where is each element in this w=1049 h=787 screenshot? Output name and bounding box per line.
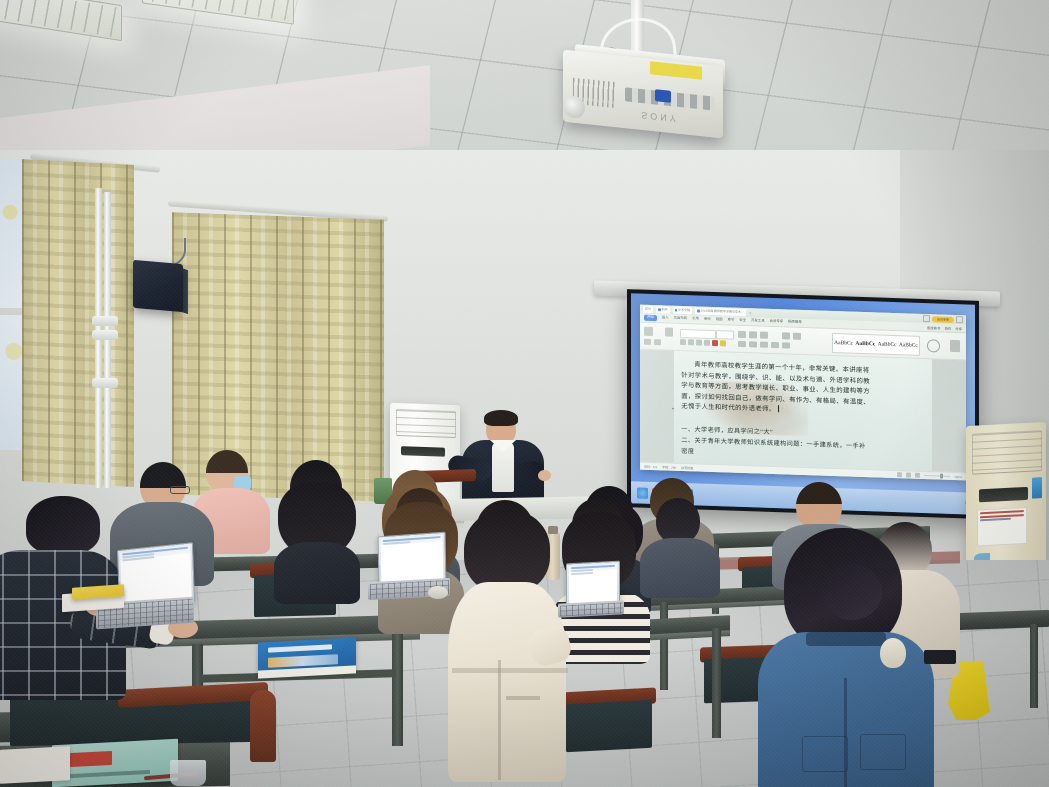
laptop-3-keys[interactable] bbox=[560, 602, 623, 616]
ribbon-tab-layout[interactable]: 页面布局 bbox=[674, 317, 688, 321]
align-left-icon[interactable] bbox=[738, 341, 746, 347]
share-button[interactable]: 分享 bbox=[955, 326, 962, 331]
wps-tab-home-label: 首页 bbox=[645, 308, 651, 311]
doc-icon bbox=[658, 308, 661, 311]
audience-3-glasses bbox=[170, 486, 190, 494]
ribbon-tab-section[interactable]: 章节 bbox=[727, 319, 734, 323]
window-minimize-icon[interactable] bbox=[956, 316, 963, 323]
wall-speaker bbox=[133, 260, 183, 312]
ac-right-notice bbox=[977, 507, 1027, 547]
font-color-icon[interactable] bbox=[712, 340, 718, 346]
doc-paragraph-line-5-text: 无愧于人生和时代的外语老师。 bbox=[681, 403, 775, 413]
view-print-layout-icon[interactable] bbox=[897, 472, 902, 477]
mouse-and-cable[interactable] bbox=[428, 586, 448, 599]
view-web-layout-icon[interactable] bbox=[906, 472, 911, 477]
format-painter-icon[interactable] bbox=[665, 327, 673, 336]
collaborate-button[interactable]: 协作 bbox=[944, 325, 951, 330]
laptop-3-content-line-2 bbox=[571, 572, 593, 575]
status-right-group[interactable]: 100% bbox=[897, 472, 962, 479]
view-outline-icon[interactable] bbox=[915, 473, 920, 478]
window-controls[interactable]: 会员专享 bbox=[923, 315, 963, 323]
laptop-3-titlebar bbox=[571, 565, 615, 569]
doc-icon bbox=[675, 309, 678, 312]
wps-tab-2-label: 稻壳 bbox=[662, 308, 668, 311]
laptop-2-content-line bbox=[383, 541, 411, 545]
line-spacing-icon[interactable] bbox=[771, 342, 779, 348]
wps-document-area[interactable]: 青年教师高校教学生涯的第一个十年，非常关键。本讲座将 针对学术与教学，围绕学、识… bbox=[640, 350, 966, 473]
cut-icon[interactable] bbox=[644, 339, 651, 345]
indent-increase-icon[interactable] bbox=[793, 333, 801, 340]
align-center-icon[interactable] bbox=[749, 341, 757, 347]
strikethrough-icon[interactable] bbox=[704, 340, 710, 346]
laptop-2-display[interactable] bbox=[381, 535, 444, 585]
desk-mid-right-leg bbox=[660, 602, 668, 690]
laptop-3-display[interactable] bbox=[569, 564, 617, 607]
style-heading1-label[interactable]: AaBbCc bbox=[855, 341, 875, 348]
numbered-list-icon[interactable] bbox=[749, 331, 757, 338]
chair-center-1-seatback[interactable] bbox=[566, 700, 652, 753]
desk-center-leg-2 bbox=[712, 628, 721, 738]
laptop-1-titlebar bbox=[122, 547, 188, 556]
ribbon-tab-recommend[interactable]: 稻壳推荐 bbox=[788, 321, 802, 325]
pipe-clamp-3 bbox=[92, 378, 118, 388]
chair-foreground-arm-post[interactable] bbox=[250, 690, 276, 762]
audience-10-collar bbox=[806, 632, 886, 646]
audience-1-hair bbox=[26, 496, 100, 554]
zoom-slider[interactable] bbox=[924, 475, 950, 477]
style-no-spacing: AaBbCc bbox=[855, 341, 875, 348]
search-icon[interactable] bbox=[927, 339, 940, 352]
copy-icon[interactable] bbox=[654, 339, 661, 345]
indent-decrease-icon[interactable] bbox=[782, 332, 790, 339]
audience-7-coat-seam bbox=[498, 660, 501, 780]
wps-tab-home[interactable]: 首页 bbox=[643, 306, 653, 313]
style-heading2[interactable]: AaBbCc bbox=[878, 341, 897, 348]
lecturer-hand-right bbox=[538, 470, 551, 481]
ac-left-display bbox=[401, 446, 444, 456]
window-restore-icon[interactable] bbox=[923, 315, 930, 322]
book-teal-title bbox=[70, 751, 112, 767]
ac-right-louvers bbox=[972, 431, 1041, 475]
lecturer-hair bbox=[484, 410, 518, 426]
audience-13-torso bbox=[640, 538, 720, 598]
wps-office-window[interactable]: 首页 稻壳 文字文稿 2023讲座 教师教学发展与学术… + bbox=[640, 305, 966, 481]
phone-on-desk[interactable] bbox=[924, 650, 956, 664]
audience-9-head bbox=[796, 482, 842, 530]
ribbon-tab-review[interactable]: 审阅 bbox=[704, 318, 711, 322]
style-heading3[interactable]: AaBbCc bbox=[899, 342, 918, 349]
audience-7-coat bbox=[448, 582, 566, 782]
account-pill[interactable]: 会员专享 bbox=[932, 316, 954, 323]
ribbon-tab-security[interactable]: 安全 bbox=[739, 319, 746, 323]
ac-right-display bbox=[979, 487, 1029, 503]
italic-icon[interactable] bbox=[688, 339, 694, 345]
paste-icon[interactable] bbox=[644, 327, 653, 336]
water-bottle-cap bbox=[548, 526, 558, 534]
text-cursor bbox=[778, 405, 779, 412]
align-right-icon[interactable] bbox=[760, 342, 768, 348]
style-gallery[interactable]: AaBbCc AaBbCc AaBbCc AaBbCc bbox=[832, 333, 920, 356]
doc-icon bbox=[697, 310, 700, 313]
audience-7-pocket bbox=[506, 696, 540, 700]
ribbon-tab-home[interactable]: 开始 bbox=[644, 315, 657, 321]
wps-tab-3[interactable]: 文字文稿 bbox=[673, 307, 693, 315]
ribbon-tab-developer[interactable]: 开发工具 bbox=[751, 320, 765, 324]
zoom-level[interactable]: 100% bbox=[954, 475, 962, 479]
borders-icon[interactable] bbox=[782, 342, 790, 348]
bold-icon[interactable] bbox=[680, 339, 686, 345]
audience-4-torso bbox=[274, 542, 360, 604]
wps-tab-active-label: 2023讲座 教师教学发展与学术… bbox=[701, 310, 745, 314]
pipe-clamp-2 bbox=[92, 330, 118, 340]
projector-vga-connector bbox=[655, 89, 671, 103]
ac-right-energy-badge bbox=[1032, 478, 1042, 499]
bullet-list-icon[interactable] bbox=[738, 331, 746, 338]
wps-tab-3-label: 文字文稿 bbox=[678, 309, 690, 312]
underline-icon[interactable] bbox=[696, 339, 702, 345]
classroom-photo: SONY 首页 bbox=[0, 0, 1049, 787]
font-name-box[interactable] bbox=[680, 329, 716, 339]
document-tools-icon[interactable] bbox=[950, 340, 960, 352]
audience-10-bun bbox=[822, 564, 882, 620]
find-command[interactable]: 查找命令 bbox=[927, 325, 941, 330]
status-spellcheck[interactable]: 拼写检查 bbox=[681, 465, 693, 469]
wps-tab-2[interactable]: 稻壳 bbox=[656, 306, 670, 313]
plastic-cup[interactable] bbox=[170, 760, 206, 786]
curtain-right[interactable] bbox=[172, 212, 384, 501]
ribbon-tab-view[interactable]: 视图 bbox=[716, 318, 723, 322]
multilevel-list-icon[interactable] bbox=[760, 332, 768, 339]
audience-10-denim-pocket bbox=[802, 736, 848, 772]
laptop-2-titlebar bbox=[383, 536, 441, 542]
wall-pipe-2 bbox=[104, 192, 111, 488]
status-word-count: 字数：286 bbox=[662, 465, 676, 469]
ribbon-tab-member[interactable]: 会员专享 bbox=[770, 320, 784, 324]
font-size-box[interactable] bbox=[716, 330, 734, 340]
audience-7-coat-belt bbox=[452, 668, 568, 673]
highlight-icon[interactable] bbox=[720, 340, 726, 346]
ribbon-right-actions[interactable]: 查找命令 协作 分享 bbox=[927, 325, 962, 331]
pipe-clamp-1 bbox=[92, 316, 118, 326]
audience-10-denim-pocket-2 bbox=[860, 734, 906, 770]
desk-left-main-leg-2 bbox=[392, 634, 403, 746]
coffee-mug[interactable] bbox=[880, 638, 906, 668]
desk-right-mid-leg-2 bbox=[1030, 624, 1038, 708]
style-normal[interactable]: AaBbCc bbox=[834, 340, 853, 347]
notice-line-3 bbox=[980, 518, 1011, 522]
status-page-info: 页码：1/3 bbox=[644, 464, 657, 468]
paragraph-marker-icon: ▸ bbox=[672, 404, 674, 415]
paper-foreground[interactable] bbox=[0, 746, 70, 784]
ribbon-tab-reference[interactable]: 引用 bbox=[692, 318, 699, 322]
ribbon-tab-insert[interactable]: 插入 bbox=[662, 317, 669, 321]
start-icon[interactable] bbox=[637, 487, 648, 498]
ac-left-louvers bbox=[396, 409, 457, 439]
new-tab-icon[interactable]: + bbox=[749, 311, 751, 315]
document-page[interactable]: 青年教师高校教学生涯的第一个十年，非常关键。本讲座将 针对学术与教学，围绕学、识… bbox=[674, 351, 932, 472]
